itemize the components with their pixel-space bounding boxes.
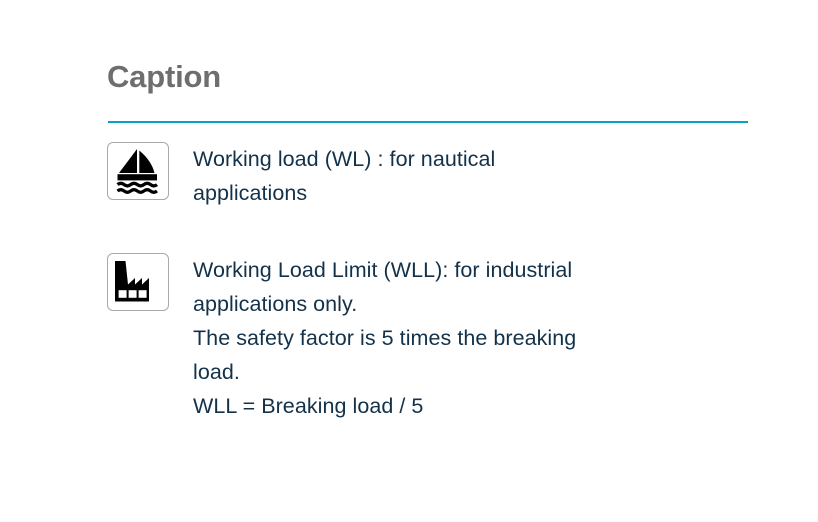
legend-line: WLL = Breaking load / 5 <box>193 389 576 423</box>
sailboat-icon <box>107 142 169 200</box>
factory-icon <box>107 253 169 311</box>
caption-panel: Caption Working load (WL) : for nautical… <box>0 0 818 522</box>
legend-item-industrial-text: Working Load Limit (WLL): for industrial… <box>193 253 576 423</box>
title-divider <box>108 121 748 123</box>
legend-line: applications <box>193 176 495 210</box>
legend-line: Working Load Limit (WLL): for industrial <box>193 253 576 287</box>
legend-line: load. <box>193 355 576 389</box>
legend-line: The safety factor is 5 times the breakin… <box>193 321 576 355</box>
legend-item-industrial: Working Load Limit (WLL): for industrial… <box>107 253 576 423</box>
page-title: Caption <box>107 57 221 97</box>
legend-line: applications only. <box>193 287 576 321</box>
legend-item-nautical: Working load (WL) : for nautical applica… <box>107 142 495 210</box>
legend-item-nautical-text: Working load (WL) : for nautical applica… <box>193 142 495 210</box>
legend-line: Working load (WL) : for nautical <box>193 142 495 176</box>
